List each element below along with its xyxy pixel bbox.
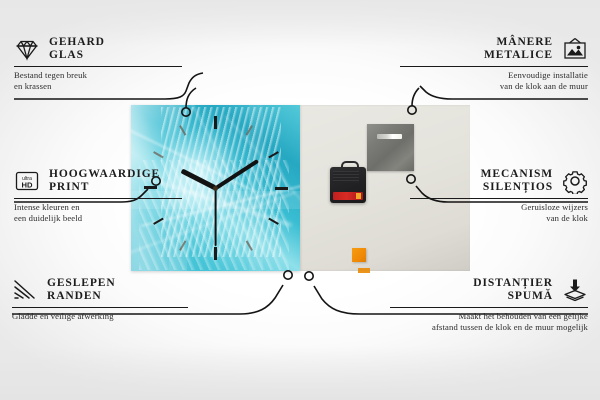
diagonal-lines-icon: [12, 277, 38, 303]
callout-subtitle-line2: van de klok: [398, 213, 588, 224]
callout-geslepen-randen: GESLEPEN RANDEN Gladde en veilige afwerk…: [12, 277, 198, 322]
callout-mecanism-silentios: MECANISM SILENȚIOS Geruisloze wijzers va…: [398, 168, 588, 224]
callout-title-line1: HOOGWAARDIGE: [49, 168, 160, 181]
callout-manere-metalice: MÂNERE METALICE Eenvoudige installatie v…: [388, 36, 588, 92]
callout-hoogwaardige-print: ultra HD HOOGWAARDIGE PRINT Intense kleu…: [14, 168, 194, 224]
callout-rule: [390, 307, 588, 308]
callout-title-line1: MÂNERE: [484, 36, 553, 49]
callout-title-line1: DISTANȚIER: [473, 277, 553, 290]
arrow-down-layers-icon: [562, 277, 588, 303]
clock-minute-hand: [214, 159, 258, 190]
callout-title-line1: MECANISM: [481, 168, 553, 181]
callout-rule: [400, 66, 588, 67]
hanger-slot: [377, 134, 402, 139]
clock-center-cap: [213, 186, 218, 191]
infographic-canvas: GEHARD GLAS Bestand tegen breuk en krass…: [0, 0, 600, 400]
foam-spacer: [352, 248, 366, 262]
connector-endpoint: [284, 271, 292, 279]
connector-endpoint: [305, 272, 313, 280]
callout-title-line1: GESLEPEN: [47, 277, 116, 290]
callout-subtitle-line1: Intense kleuren en: [14, 202, 194, 213]
callout-rule: [410, 198, 588, 199]
callout-subtitle-line2: en krassen: [14, 81, 194, 92]
callout-subtitle-line1: Eenvoudige installatie: [388, 70, 588, 81]
gear-icon: [562, 168, 588, 194]
callout-subtitle-line1: Bestand tegen breuk: [14, 70, 194, 81]
callout-title-line2: GLAS: [49, 49, 105, 62]
ultra-hd-icon: ultra HD: [14, 168, 40, 194]
clock-tick: [216, 187, 288, 189]
callout-subtitle-line2: afstand tussen de klok en de muur mogeli…: [378, 322, 588, 333]
callout-rule: [14, 66, 182, 67]
diamond-icon: [14, 36, 40, 62]
foam-spacer-shadow: [358, 268, 370, 273]
callout-distantier-spuma: DISTANȚIER SPUMĂ Maakt het behouden van …: [378, 277, 588, 333]
svg-text:HD: HD: [22, 180, 33, 189]
callout-title-line2: SPUMĂ: [473, 290, 553, 303]
picture-frame-icon: [562, 36, 588, 62]
clock-tick: [215, 116, 217, 188]
callout-title-line2: METALICE: [484, 49, 553, 62]
clock-second-hand: [215, 188, 217, 246]
clock-mechanism: [330, 167, 366, 203]
callout-subtitle-line1: Maakt het behouden van een gelijke: [378, 311, 588, 322]
mechanism-grill: [333, 171, 359, 183]
callout-subtitle-line1: Geruisloze wijzers: [398, 202, 588, 213]
metal-hanger-plate: [367, 124, 414, 171]
callout-title-line2: SILENȚIOS: [481, 181, 553, 194]
callout-title-line2: RANDEN: [47, 290, 116, 303]
callout-rule: [14, 198, 182, 199]
callout-subtitle-line2: van de klok aan de muur: [388, 81, 588, 92]
battery: [333, 192, 363, 200]
callout-gehard-glas: GEHARD GLAS Bestand tegen breuk en krass…: [14, 36, 194, 92]
callout-subtitle-line1: Gladde en veilige afwerking: [12, 311, 198, 322]
callout-rule: [12, 307, 188, 308]
mechanism-loop: [341, 161, 359, 171]
callout-title-line1: GEHARD: [49, 36, 105, 49]
callout-title-line2: PRINT: [49, 181, 160, 194]
callout-subtitle-line2: een duidelijk beeld: [14, 213, 194, 224]
